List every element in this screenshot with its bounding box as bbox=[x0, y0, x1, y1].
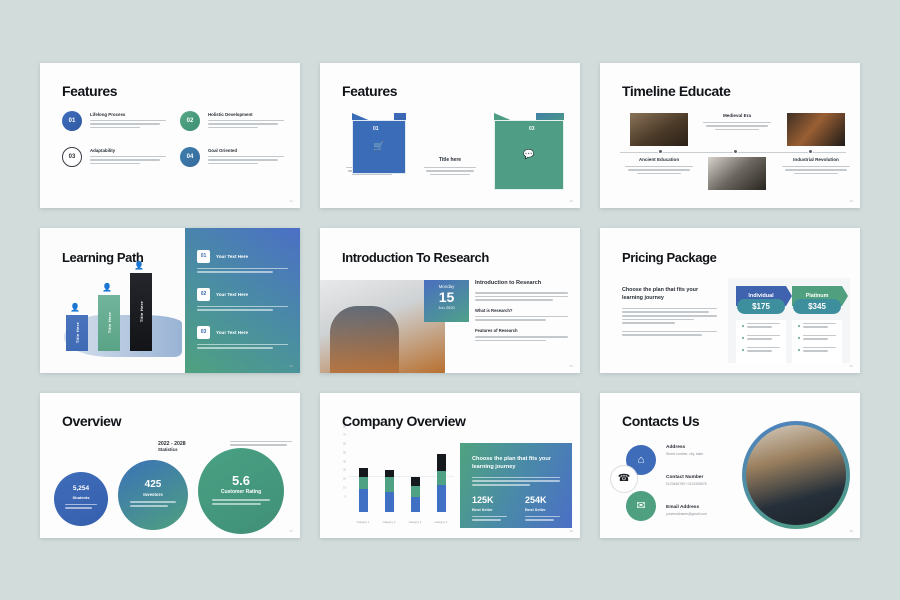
stat-block: 125K Best Seller bbox=[472, 496, 507, 523]
chart-bar bbox=[411, 477, 420, 512]
page-number: 04 bbox=[290, 364, 293, 368]
text-line bbox=[90, 127, 140, 129]
page-number: 05 bbox=[570, 364, 573, 368]
date-month: Jun 2020 bbox=[424, 305, 469, 310]
slide-thumbnail-pricing-package[interactable]: Pricing Package Choose the plan that fit… bbox=[600, 228, 860, 373]
text-line bbox=[472, 477, 560, 479]
step-badge: 02 bbox=[180, 111, 200, 131]
text-line bbox=[622, 315, 717, 317]
chart-x-label: Category 4 bbox=[435, 521, 448, 524]
statistics-subtitle: Statistics bbox=[158, 447, 186, 452]
statistics-years: 2022 - 2028 bbox=[158, 441, 186, 447]
chart-bar-segment bbox=[359, 477, 368, 489]
stat-value: 425 bbox=[145, 480, 162, 490]
text-line bbox=[622, 334, 702, 336]
shopping-cart-icon: 🛒 bbox=[352, 120, 406, 174]
text-line bbox=[90, 123, 160, 125]
page-title: Features bbox=[62, 83, 117, 99]
stat-label: Customer Rating bbox=[221, 489, 261, 495]
step-badge: 03 bbox=[62, 147, 82, 167]
contact-value: Street number, city, state bbox=[666, 452, 728, 456]
text-line bbox=[475, 316, 568, 318]
arrow-shape: 🛒 01 bbox=[338, 111, 406, 151]
chart-bar-segment bbox=[437, 471, 446, 485]
portrait-photo bbox=[742, 421, 850, 529]
section-heading: Introduction to Research bbox=[475, 280, 568, 288]
text-line bbox=[426, 170, 474, 172]
person-icon: 👤 bbox=[70, 303, 80, 312]
pricing-feature bbox=[798, 335, 836, 342]
timeline-dot bbox=[733, 149, 738, 154]
page-title: Company Overview bbox=[342, 413, 466, 429]
text-line bbox=[703, 122, 771, 124]
contact-item-email[interactable]: Email Address youemailname@gmail.com bbox=[666, 505, 728, 516]
step-badge: 03 bbox=[197, 326, 210, 339]
text-line bbox=[352, 174, 392, 176]
text-line bbox=[625, 166, 693, 168]
pricing-card-platinum[interactable]: Platinum $345 bbox=[792, 286, 842, 355]
timeline-entry[interactable]: Industrial Revolution bbox=[782, 157, 850, 177]
contact-item-phone[interactable]: Contact Number 0123456789 / 0123456678 bbox=[666, 475, 728, 486]
text-line bbox=[475, 296, 568, 298]
company-stats-panel: Choose the plan that fits your learning … bbox=[460, 443, 572, 528]
list-item[interactable]: 03 Your Text Here bbox=[197, 326, 288, 349]
pricing-plan-price: $175 bbox=[737, 299, 785, 314]
list-item-heading: Your Text Here bbox=[216, 254, 248, 259]
bullet-icon bbox=[742, 325, 744, 327]
list-item[interactable]: 💬 02 Title here bbox=[416, 111, 484, 178]
date-day: 15 bbox=[424, 290, 469, 304]
chart-bar-segment bbox=[411, 497, 420, 512]
page-number: 01 bbox=[290, 199, 293, 203]
text-line bbox=[90, 156, 166, 158]
section-heading: What is Research? bbox=[475, 308, 568, 313]
slide-thumbnail-overview[interactable]: Overview 2022 - 2028 Statistics 5,254 St… bbox=[40, 393, 300, 538]
page-number: 02 bbox=[570, 199, 573, 203]
bullet-icon bbox=[798, 337, 800, 339]
bullet-icon bbox=[742, 337, 744, 339]
chart-bars bbox=[350, 445, 454, 512]
statistics-header: 2022 - 2028 Statistics bbox=[158, 441, 186, 452]
pricing-cards: Individual $175 bbox=[728, 278, 850, 363]
slide-thumbnail-features-numbered[interactable]: Features 01 Lifelong Process 02 Holistic… bbox=[40, 63, 300, 208]
text-line bbox=[475, 340, 546, 342]
timeline-entry-heading: Industrial Revolution bbox=[782, 157, 850, 163]
date-weekday: Monday bbox=[424, 284, 469, 289]
slide-thumbnail-learning-path[interactable]: Learning Path 👤 Title Here 👤 Title Here … bbox=[40, 228, 300, 373]
chart-bar-segment bbox=[385, 492, 394, 511]
text-line bbox=[628, 169, 691, 171]
pricing-feature bbox=[798, 323, 836, 330]
timeline: Ancient Education Medieval Era Industria… bbox=[620, 109, 846, 200]
contact-heading: Email Address bbox=[666, 505, 728, 510]
timeline-entry-heading: Medieval Era bbox=[703, 113, 771, 119]
text-line bbox=[208, 156, 284, 158]
phone-icon: ☎ bbox=[610, 465, 638, 493]
step-bar-chart: 👤 Title Here 👤 Title Here 👤 Title Here bbox=[58, 273, 178, 361]
stat-circle-customer-rating[interactable]: 5.6 Customer Rating bbox=[198, 448, 284, 534]
stat-value: 5.6 bbox=[232, 474, 250, 487]
text-line bbox=[715, 129, 760, 131]
section-heading: Features of Research bbox=[475, 328, 568, 333]
list-item-heading: Holistic Development bbox=[208, 112, 284, 117]
stacked-bar-chart: 01020304050607080 Category 1Category 2Ca… bbox=[336, 445, 454, 524]
stat-value: 125K bbox=[472, 496, 507, 505]
text-line bbox=[475, 292, 568, 294]
chart-bar-segment bbox=[385, 477, 394, 493]
chart-bar: 👤 Title Here bbox=[130, 273, 152, 351]
feature-list: 01 Lifelong Process 02 Holistic Developm… bbox=[62, 111, 284, 167]
chart-y-tick: 50 bbox=[343, 451, 346, 454]
text-line bbox=[622, 308, 717, 310]
text-line bbox=[197, 268, 288, 270]
chart-y-tick: 60 bbox=[343, 443, 346, 446]
bullet-icon bbox=[798, 349, 800, 351]
chart-bar-label: Title Here bbox=[107, 312, 112, 333]
date-badge: Monday 15 Jun 2020 bbox=[424, 280, 469, 322]
chart-y-tick: 40 bbox=[343, 460, 346, 463]
stat-label: Best Seller bbox=[472, 507, 507, 512]
stat-label: Investors bbox=[143, 492, 163, 497]
chart-y-tick: 10 bbox=[343, 486, 346, 489]
text-line bbox=[208, 163, 258, 165]
contact-value: youemailname@gmail.com bbox=[666, 512, 728, 516]
step-badge: 02 bbox=[451, 126, 457, 132]
text-line bbox=[90, 163, 140, 165]
step-badge: 02 bbox=[197, 288, 210, 301]
timeline-dot bbox=[658, 149, 663, 154]
contact-item-address[interactable]: Address Street number, city, state bbox=[666, 445, 728, 456]
stat-circle-students[interactable]: 5,254 Students bbox=[54, 472, 108, 526]
page-number: 07 bbox=[290, 529, 293, 533]
chart-bar-segment bbox=[385, 470, 394, 477]
step-badge: 03 bbox=[529, 126, 535, 132]
text-line bbox=[208, 127, 258, 129]
chart-bar-segment bbox=[437, 454, 446, 472]
slide-deck-grid: Features 01 Lifelong Process 02 Holistic… bbox=[0, 0, 900, 600]
text-line bbox=[90, 159, 160, 161]
text-line bbox=[637, 173, 682, 175]
timeline-image bbox=[787, 113, 845, 146]
timeline-dot bbox=[808, 149, 813, 154]
slide-thumbnail-contacts-us[interactable]: Contacts Us ⌂ ☎ ✉ Address Street number,… bbox=[600, 393, 860, 538]
section-heading: Choose the plan that fits your learning … bbox=[622, 286, 717, 302]
list-item-heading: Adaptability bbox=[90, 148, 166, 153]
chart-bar-label: Title Here bbox=[139, 301, 144, 322]
pricing-plan-price: $345 bbox=[793, 299, 841, 314]
chart-bar bbox=[359, 468, 368, 512]
text-line bbox=[430, 174, 470, 176]
text-line bbox=[197, 309, 273, 311]
page-title: Contacts Us bbox=[622, 413, 699, 429]
list-item-heading: Goal Oriented bbox=[208, 148, 284, 153]
text-line bbox=[197, 271, 273, 273]
slide-thumbnail-timeline-educate[interactable]: Timeline Educate Ancient Education Medie… bbox=[600, 63, 860, 208]
page-number: 03 bbox=[850, 199, 853, 203]
page-title: Features bbox=[342, 83, 397, 99]
text-line bbox=[622, 311, 709, 313]
list-item-heading: Lifelong Process bbox=[90, 112, 166, 117]
chart-y-tick: 70 bbox=[343, 434, 346, 437]
pricing-card-individual[interactable]: Individual $175 bbox=[736, 286, 786, 355]
page-title: Learning Path bbox=[62, 250, 143, 265]
slide-thumbnail-introduction-to-research[interactable]: Introduction To Research Monday 15 Jun 2… bbox=[320, 228, 580, 373]
list-item-heading: Your Text Here bbox=[216, 330, 248, 335]
chart-bar bbox=[385, 470, 394, 512]
arrow-shape: 💬 02 bbox=[416, 111, 484, 151]
page-title: Overview bbox=[62, 413, 121, 429]
chart-x-label: Category 3 bbox=[409, 521, 422, 524]
chart-y-tick: 30 bbox=[343, 469, 346, 472]
text-line bbox=[208, 120, 284, 122]
statistics-description bbox=[230, 441, 292, 448]
chart-bar-segment bbox=[411, 486, 420, 497]
step-badge: 01 bbox=[62, 111, 82, 131]
text-line bbox=[230, 444, 287, 446]
contact-value: 0123456789 / 0123456678 bbox=[666, 482, 728, 486]
text-line bbox=[785, 169, 848, 171]
text-line bbox=[197, 347, 273, 349]
text-line bbox=[782, 166, 850, 168]
text-line bbox=[208, 159, 278, 161]
stat-label: Best Seller bbox=[525, 507, 560, 512]
timeline-entry[interactable]: Ancient Education bbox=[625, 157, 693, 177]
stat-block: 254K Best Seller bbox=[525, 496, 560, 523]
chart-bar-segment bbox=[359, 489, 368, 512]
text-line bbox=[472, 484, 530, 486]
text-line bbox=[197, 344, 288, 346]
text-line bbox=[794, 173, 839, 175]
chart-bar: 👤 Title Here bbox=[98, 295, 120, 351]
list-item[interactable]: 01 Lifelong Process bbox=[62, 111, 166, 131]
text-line bbox=[197, 306, 288, 308]
page-title: Introduction To Research bbox=[342, 250, 489, 265]
chart-x-label: Category 1 bbox=[357, 521, 370, 524]
timeline-entry-heading: Ancient Education bbox=[625, 157, 693, 163]
portrait-image bbox=[746, 425, 846, 525]
text-line bbox=[475, 336, 568, 338]
step-badge: 01 bbox=[197, 250, 210, 263]
page-number: 08 bbox=[570, 529, 573, 533]
chart-bar-segment bbox=[437, 485, 446, 511]
step-badge: 01 bbox=[373, 126, 379, 132]
list-item[interactable]: 01 Your Text Here bbox=[197, 250, 288, 273]
chart-bar-segment bbox=[411, 477, 420, 487]
list-item[interactable]: 02 Holistic Development bbox=[180, 111, 284, 131]
learning-path-right-panel: 01 Your Text Here 02 Your Text Here 03 Y… bbox=[185, 228, 300, 373]
stat-circle-investors[interactable]: 425 Investors bbox=[118, 460, 188, 530]
pricing-feature bbox=[742, 335, 780, 342]
chart-bar: 👤 Title Here bbox=[66, 315, 88, 351]
chart-bar-segment bbox=[359, 468, 368, 477]
pricing-feature bbox=[742, 323, 780, 330]
text-line bbox=[208, 123, 278, 125]
person-icon: 👤 bbox=[134, 261, 144, 270]
panel-heading: Choose the plan that fits your learning … bbox=[472, 455, 560, 471]
page-title: Timeline Educate bbox=[622, 83, 731, 99]
pricing-feature bbox=[742, 347, 780, 354]
text-line bbox=[622, 319, 694, 321]
chart-y-tick: 80 bbox=[343, 425, 346, 428]
page-title: Pricing Package bbox=[622, 250, 716, 265]
text-line bbox=[472, 480, 560, 482]
timeline-entry[interactable]: Medieval Era bbox=[703, 113, 771, 133]
arrow-shape: ✉ 03 bbox=[494, 111, 562, 151]
chart-y-axis: 01020304050607080 bbox=[336, 445, 348, 512]
bullet-icon bbox=[742, 349, 744, 351]
learning-path-left-panel: Learning Path 👤 Title Here 👤 Title Here … bbox=[40, 228, 185, 373]
text-line bbox=[90, 120, 166, 122]
person-icon: 👤 bbox=[102, 283, 112, 292]
text-line bbox=[622, 322, 675, 324]
stat-label: Students bbox=[72, 495, 89, 500]
mail-icon: ✉ bbox=[626, 491, 656, 521]
list-item-heading: Title here bbox=[416, 157, 484, 163]
stat-value: 5,254 bbox=[73, 486, 89, 493]
feature-arrow-list: 🛒 01 Title here 💬 02 Title here bbox=[338, 111, 562, 178]
list-item[interactable]: 03 Adaptability bbox=[62, 147, 166, 167]
timeline-image bbox=[630, 113, 688, 146]
contact-heading: Address bbox=[666, 445, 728, 450]
slide-thumbnail-company-overview[interactable]: Company Overview 01020304050607080 Categ… bbox=[320, 393, 580, 538]
slide-thumbnail-features-arrows[interactable]: Features 🛒 01 Title here 💬 bbox=[320, 63, 580, 208]
chart-y-tick: 0 bbox=[345, 495, 346, 498]
timeline-image bbox=[708, 157, 766, 190]
text-line bbox=[475, 319, 546, 321]
list-item-heading: Your Text Here bbox=[216, 292, 248, 297]
text-line bbox=[475, 299, 553, 301]
chart-x-label: Category 2 bbox=[383, 521, 396, 524]
text-line bbox=[622, 331, 717, 333]
pricing-feature bbox=[798, 347, 836, 354]
research-text-block: Introduction to Research What is Researc… bbox=[475, 280, 568, 344]
list-item[interactable]: 02 Your Text Here bbox=[197, 288, 288, 311]
text-line bbox=[424, 167, 476, 169]
stat-value: 254K bbox=[525, 496, 560, 505]
chart-bar bbox=[437, 454, 446, 512]
step-badge: 04 bbox=[180, 147, 200, 167]
pricing-lead-block: Choose the plan that fits your learning … bbox=[622, 286, 717, 338]
chart-bar-label: Title Here bbox=[75, 322, 80, 343]
bullet-icon bbox=[798, 325, 800, 327]
list-item[interactable]: 04 Goal Oriented bbox=[180, 147, 284, 167]
contact-heading: Contact Number bbox=[666, 475, 728, 480]
list-item[interactable]: 🛒 01 Title here bbox=[338, 111, 406, 178]
text-line bbox=[230, 441, 292, 443]
chart-x-labels: Category 1Category 2Category 3Category 4 bbox=[350, 521, 454, 524]
page-number: 09 bbox=[850, 529, 853, 533]
chart-y-tick: 20 bbox=[343, 478, 346, 481]
page-number: 06 bbox=[850, 364, 853, 368]
text-line bbox=[706, 125, 769, 127]
